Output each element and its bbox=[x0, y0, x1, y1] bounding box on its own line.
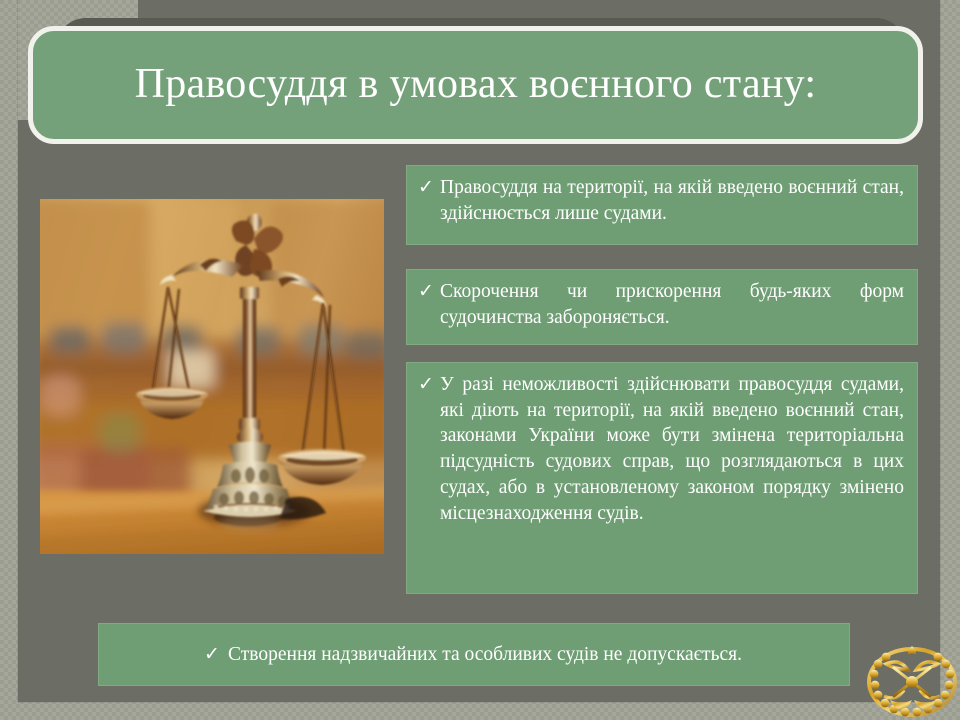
gold-wreath-emblem-icon bbox=[864, 638, 960, 726]
check-icon: ✓ bbox=[418, 372, 440, 397]
bullet-box-4: ✓ Створення надзвичайних та особливих су… bbox=[98, 623, 850, 686]
check-icon: ✓ bbox=[418, 175, 440, 200]
check-icon: ✓ bbox=[204, 642, 228, 667]
bullet-text: Створення надзвичайних та особливих суді… bbox=[228, 642, 742, 668]
bullet-row: ✓ Правосуддя на території, на якій введе… bbox=[418, 175, 904, 226]
bullet-box-3: ✓ У разі неможливості здійснювати правос… bbox=[406, 362, 918, 594]
check-icon: ✓ bbox=[418, 279, 440, 304]
bullet-row: ✓ У разі неможливості здійснювати правос… bbox=[418, 372, 904, 526]
bullet-row: ✓ Створення надзвичайних та особливих су… bbox=[110, 642, 836, 668]
bullet-text: Скорочення чи прискорення будь-яких форм… bbox=[440, 279, 904, 330]
bullet-box-1: ✓ Правосуддя на території, на якій введе… bbox=[406, 165, 918, 245]
bullet-text: У разі неможливості здійснювати правосуд… bbox=[440, 372, 904, 526]
title-box: Правосуддя в умовах воєнного стану: bbox=[28, 26, 923, 144]
scales-of-justice-photo bbox=[40, 199, 384, 554]
page-title: Правосуддя в умовах воєнного стану: bbox=[135, 61, 817, 108]
bullet-box-2: ✓ Скорочення чи прискорення будь-яких фо… bbox=[406, 269, 918, 345]
bullet-text: Правосуддя на території, на якій введено… bbox=[440, 175, 904, 226]
slide-canvas: Правосуддя в умовах воєнного стану: bbox=[0, 0, 960, 720]
bullet-row: ✓ Скорочення чи прискорення будь-яких фо… bbox=[418, 279, 904, 330]
